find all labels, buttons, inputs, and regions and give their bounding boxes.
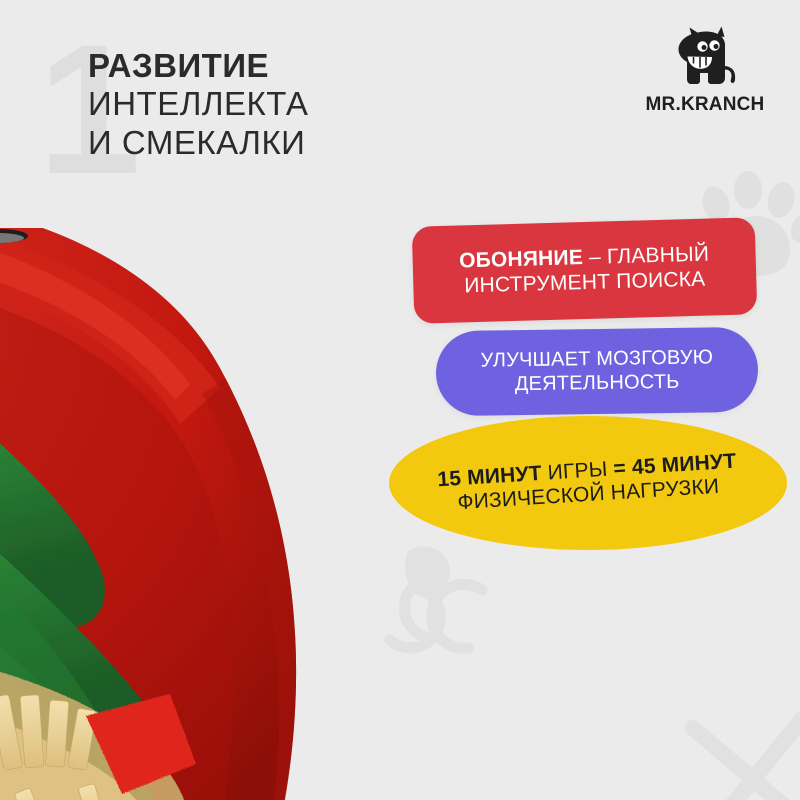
badge-time[interactable]: 15 МИНУТ ИГРЫ = 45 МИНУТ ФИЗИЧЕСКОЙ НАГР… bbox=[389, 416, 787, 550]
brand-name: MR.KRANCH bbox=[646, 94, 765, 116]
badge-smell-bold: ОБОНЯНИЕ bbox=[459, 246, 583, 272]
badge-time-text: 15 МИНУТ ИГРЫ = 45 МИНУТ ФИЗИЧЕСКОЙ НАГР… bbox=[427, 449, 749, 518]
badge-smell[interactable]: ОБОНЯНИЕ – ГЛАВНЫЙ ИНСТРУМЕНТ ПОИСКА bbox=[412, 217, 758, 324]
dog-head-icon bbox=[669, 26, 741, 88]
brand-logo: MR.KRANCH bbox=[646, 26, 764, 116]
slide-canvas: 1 РАЗВИТИЕ ИНТЕЛЛЕКТА И СМЕКАЛКИ bbox=[0, 0, 800, 800]
badge-smell-rest: – ГЛАВНЫЙ bbox=[583, 243, 710, 270]
crossed-bones-icon bbox=[675, 700, 800, 800]
badge-brain-text: УЛУЧШАЕТ МОЗГОВУЮ ДЕЯТЕЛЬНОСТЬ bbox=[460, 346, 733, 396]
page-title: РАЗВИТИЕ ИНТЕЛЛЕКТА И СМЕКАЛКИ bbox=[88, 48, 308, 163]
badge-brain-line2: ДЕЯТЕЛЬНОСТЬ bbox=[515, 370, 680, 394]
badge-brain-line1: УЛУЧШАЕТ МОЗГОВУЮ bbox=[480, 347, 713, 372]
badge-time-light: ИГРЫ bbox=[541, 457, 614, 484]
product-photo bbox=[0, 228, 410, 800]
badge-smell-text: ОБОНЯНИЕ – ГЛАВНЫЙ ИНСТРУМЕНТ ПОИСКА bbox=[445, 242, 724, 298]
headline-line-3: И СМЕКАЛКИ bbox=[88, 124, 308, 163]
badge-smell-line2: ИНСТРУМЕНТ ПОИСКА bbox=[464, 267, 706, 297]
headline-line-1: РАЗВИТИЕ bbox=[88, 48, 308, 85]
badge-brain[interactable]: УЛУЧШАЕТ МОЗГОВУЮ ДЕЯТЕЛЬНОСТЬ bbox=[435, 327, 758, 416]
headline-line-2: ИНТЕЛЛЕКТА bbox=[88, 85, 308, 124]
